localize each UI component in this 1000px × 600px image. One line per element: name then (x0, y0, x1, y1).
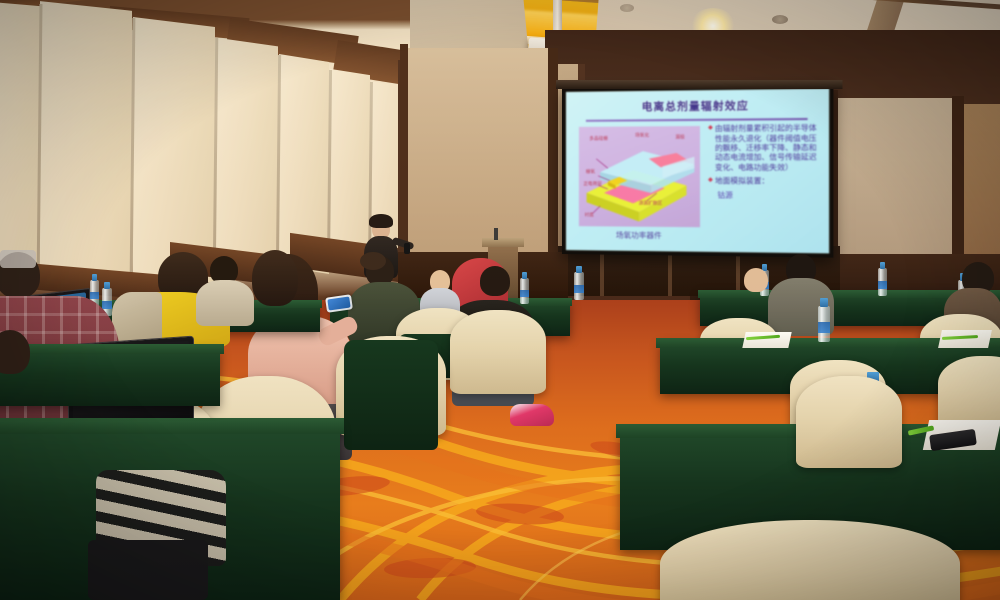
water-bottle (818, 306, 830, 342)
long-hair (252, 250, 298, 306)
sneaker (510, 404, 554, 426)
diagram-label-top-mid: 场氧化 (635, 132, 649, 138)
table-surface (0, 418, 344, 434)
chair (796, 376, 902, 468)
bottle-label (102, 301, 112, 309)
slide-bullet-text: 地面模拟装置： (715, 176, 769, 186)
audience-head (480, 266, 510, 296)
slide-sub-item: 钴源 (717, 190, 823, 200)
microphone-icon (404, 243, 410, 254)
front-wall-panel (405, 48, 555, 264)
water-bottle (520, 278, 529, 304)
slide-title-rule (586, 118, 807, 122)
bottle-cap (820, 298, 828, 307)
diagram-label-mid-left-2: 正电荷层 (583, 182, 601, 188)
bullet-marker-icon: ◆ (708, 124, 713, 133)
bullet-marker-icon: ◆ (708, 176, 713, 185)
bottle-label (90, 292, 99, 300)
bottle-label (574, 285, 584, 293)
screen-surface: 电离总剂量辐射效应 (566, 89, 829, 254)
diagram-label-lower-right: 源漏扩散区 (639, 201, 662, 207)
partition-panel (0, 2, 40, 284)
slide-bullet-item: ◆ 地面模拟装置： (708, 176, 824, 186)
recessed-fixture-icon (772, 15, 788, 24)
diagram-label-top-left: 多晶硅栅 (589, 135, 607, 141)
wall-panel (836, 98, 956, 276)
lectern-top (482, 238, 524, 247)
bottle-cap (92, 274, 98, 280)
presenter-hair (369, 214, 393, 228)
chair (660, 520, 960, 600)
recessed-fixture-icon (620, 4, 634, 12)
partition-panel (216, 38, 278, 279)
chair-sash (344, 340, 438, 450)
slide-bullet-item: ◆ 由辐射剂量累积引起的半导体性能永久退化（器件阈值电压的飘移、迁移率下降、静态… (708, 123, 824, 172)
conference-room-photo: 电离总剂量辐射效应 (0, 0, 1000, 600)
projection-screen[interactable]: 电离总剂量辐射效应 (562, 84, 833, 257)
lectern-mic-stand-icon (494, 228, 498, 240)
screen-roller-bar (556, 80, 843, 89)
hair-bun (360, 252, 386, 270)
bottle-label (878, 281, 887, 289)
diagram-label-bottom-left: 衬底 (585, 212, 594, 218)
diagram-label-top-right: 漏极 (675, 134, 684, 140)
front-wall-edge (400, 44, 408, 266)
audience-body (196, 280, 254, 326)
water-bottle (574, 272, 584, 300)
table-surface (0, 344, 224, 354)
slide-bullet-list: ◆ 由辐射剂量累积引起的半导体性能永久退化（器件阈值电压的飘移、迁移率下降、静态… (708, 123, 824, 200)
slide-bullet-text: 由辐射剂量累积引起的半导体性能永久退化（器件阈值电压的飘移、迁移率下降、静态和动… (715, 123, 824, 172)
bottle-label (818, 322, 830, 333)
slide-title: 电离总剂量辐射效应 (591, 97, 801, 114)
slide-diagram-caption: 场氧功率器件 (579, 229, 700, 241)
chair (450, 310, 546, 394)
jacket-shoulder (112, 292, 162, 344)
wall-panel (962, 104, 1000, 276)
table-row (0, 348, 220, 406)
audience-head (744, 268, 768, 292)
wall-base-seam (600, 248, 604, 296)
bottle-label (520, 290, 529, 298)
slide-diagram-panel: 多晶硅栅 场氧化 漏极 栅氧 正电荷层 源漏扩散区 衬底 (579, 126, 700, 228)
bottle-cap (576, 266, 582, 273)
diagram-label-mid-left: 栅氧 (586, 169, 595, 175)
chair-back-foreground (88, 540, 208, 600)
phone-screen (327, 297, 350, 311)
bottle-cap (880, 262, 886, 269)
notepad (742, 332, 791, 348)
water-bottle (878, 268, 887, 296)
bottle-cap (104, 282, 110, 289)
partition-panel (40, 1, 132, 283)
glasses-icon (0, 250, 36, 268)
bottle-cap (522, 272, 528, 278)
